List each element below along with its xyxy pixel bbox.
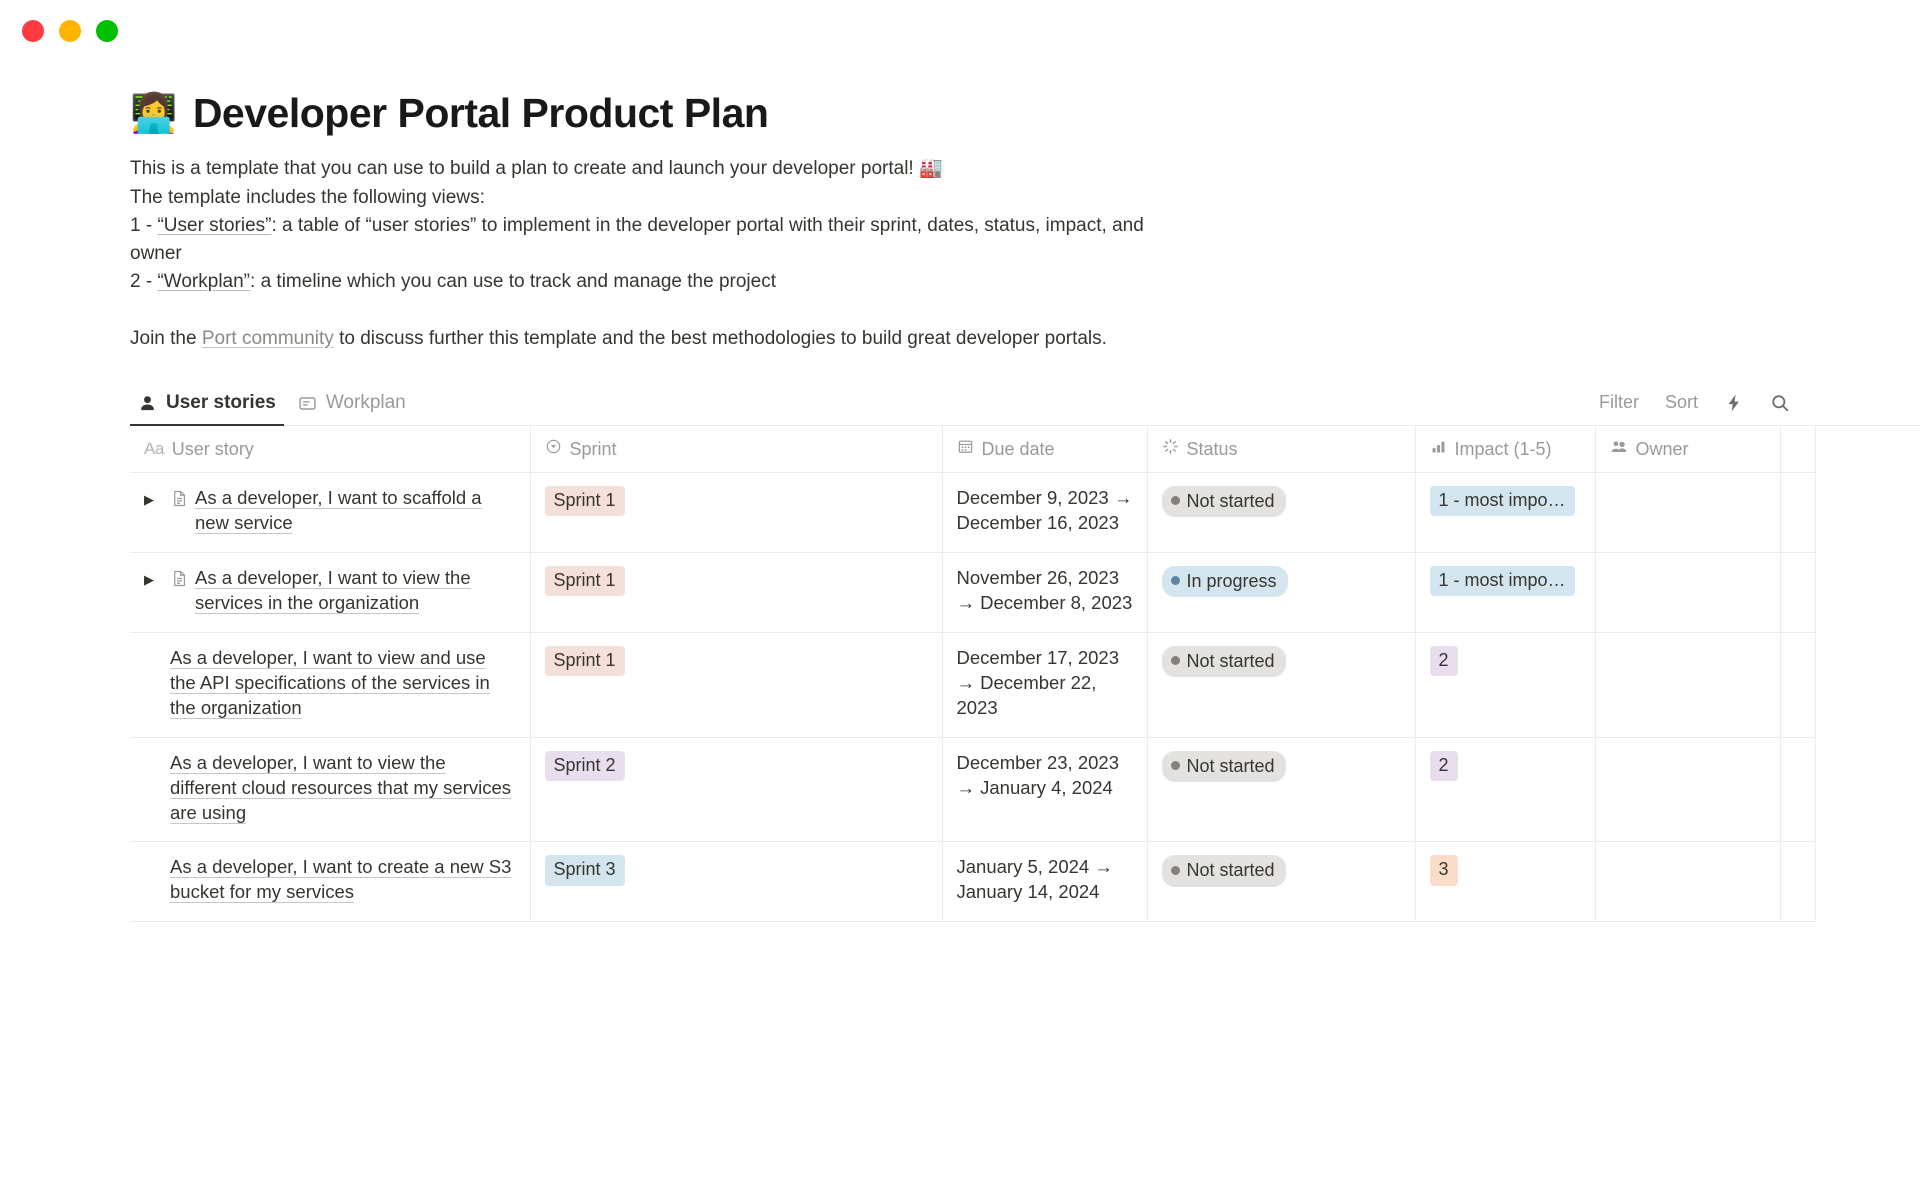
status-dot-icon bbox=[1171, 656, 1180, 665]
cell-due-date[interactable]: January 5, 2024 → January 14, 2024 bbox=[942, 842, 1147, 922]
title-aa-icon: Aa bbox=[144, 439, 164, 459]
impact-tag: 1 - most impo… bbox=[1430, 566, 1575, 596]
cell-owner[interactable] bbox=[1595, 552, 1780, 632]
port-community-link[interactable]: Port community bbox=[202, 328, 334, 349]
impact-tag: 2 bbox=[1430, 646, 1458, 676]
page-document-icon bbox=[170, 486, 195, 515]
view-tabs-bar: User stories Workplan Filter Sort bbox=[130, 388, 1920, 426]
page-title-text: Developer Portal Product Plan bbox=[193, 90, 769, 137]
impact-tag: 3 bbox=[1430, 855, 1458, 885]
join-community-line: Join the Port community to discuss furth… bbox=[130, 325, 1160, 353]
status-badge: Not started bbox=[1162, 855, 1286, 886]
user-story-link[interactable]: As a developer, I want to view the servi… bbox=[195, 566, 516, 616]
cell-trailing bbox=[1780, 737, 1815, 842]
person-at-computer-emoji: 👩‍💻 bbox=[130, 95, 177, 133]
cell-sprint[interactable]: Sprint 3 bbox=[530, 842, 942, 922]
user-story-link[interactable]: As a developer, I want to view the diffe… bbox=[170, 751, 516, 826]
view-tabs: User stories Workplan bbox=[130, 388, 414, 425]
tab-workplan-label: Workplan bbox=[326, 392, 406, 414]
description-line-3: 1 - “User stories”: a table of “user sto… bbox=[130, 212, 1160, 267]
cell-due-date[interactable]: November 26, 2023 → December 8, 2023 bbox=[942, 552, 1147, 632]
sprint-tag: Sprint 1 bbox=[545, 566, 625, 596]
impact-tag: 1 - most impo… bbox=[1430, 486, 1575, 516]
expand-row-toggle-icon bbox=[144, 751, 170, 755]
cell-sprint[interactable]: Sprint 2 bbox=[530, 737, 942, 842]
description-line-1: This is a template that you can use to b… bbox=[130, 155, 1160, 183]
column-header-status-label: Status bbox=[1187, 439, 1238, 460]
minimize-window-button[interactable] bbox=[59, 20, 81, 42]
cell-sprint[interactable]: Sprint 1 bbox=[530, 632, 942, 737]
status-dot-icon bbox=[1171, 761, 1180, 770]
cell-due-date[interactable]: December 23, 2023 → January 4, 2024 bbox=[942, 737, 1147, 842]
table-header: Aa User story Sprint bbox=[130, 426, 1815, 472]
cell-user-story[interactable]: As a developer, I want to create a new S… bbox=[130, 842, 530, 922]
cell-user-story[interactable]: As a developer, I want to view and use t… bbox=[130, 632, 530, 737]
sort-button[interactable]: Sort bbox=[1665, 392, 1698, 413]
cell-due-date[interactable]: December 17, 2023 → December 22, 2023 bbox=[942, 632, 1147, 737]
tab-workplan[interactable]: Workplan bbox=[290, 388, 414, 425]
description-line-2: The template includes the following view… bbox=[130, 184, 1160, 212]
status-dot-icon bbox=[1171, 496, 1180, 505]
page-description: This is a template that you can use to b… bbox=[130, 155, 1160, 352]
cell-trailing bbox=[1780, 552, 1815, 632]
description-line-4: 2 - “Workplan”: a timeline which you can… bbox=[130, 268, 1160, 296]
table-row[interactable]: ▶As a developer, I want to scaffold a ne… bbox=[130, 472, 1815, 552]
status-badge: Not started bbox=[1162, 646, 1286, 677]
due-date-range: December 9, 2023 → December 16, 2023 bbox=[957, 487, 1133, 533]
join-rest: to discuss further this template and the… bbox=[334, 328, 1107, 349]
column-header-owner[interactable]: Owner bbox=[1595, 426, 1780, 472]
column-header-sprint[interactable]: Sprint bbox=[530, 426, 942, 472]
lightning-bolt-icon[interactable] bbox=[1724, 393, 1744, 413]
cell-trailing bbox=[1780, 632, 1815, 737]
window-title-bar bbox=[0, 0, 1920, 62]
cell-due-date[interactable]: December 9, 2023 → December 16, 2023 bbox=[942, 472, 1147, 552]
cell-trailing bbox=[1780, 842, 1815, 922]
table-body: ▶As a developer, I want to scaffold a ne… bbox=[130, 472, 1815, 922]
cell-user-story[interactable]: ▶As a developer, I want to scaffold a ne… bbox=[130, 472, 530, 552]
description-line-3-rest: : a table of “user stories” to implement… bbox=[130, 215, 1144, 264]
column-header-due-date[interactable]: Due date bbox=[942, 426, 1147, 472]
table-row[interactable]: As a developer, I want to create a new S… bbox=[130, 842, 1815, 922]
user-story-link[interactable]: As a developer, I want to view and use t… bbox=[170, 646, 516, 721]
status-dot-icon bbox=[1171, 576, 1180, 585]
cell-impact[interactable]: 1 - most impo… bbox=[1415, 552, 1595, 632]
expand-row-toggle-icon[interactable]: ▶ bbox=[144, 566, 170, 590]
status-spinner-icon bbox=[1162, 438, 1179, 460]
due-date-range: December 23, 2023 → January 4, 2024 bbox=[957, 752, 1120, 798]
table-toolbar: Filter Sort bbox=[1599, 392, 1790, 425]
cell-sprint[interactable]: Sprint 1 bbox=[530, 552, 942, 632]
cell-status[interactable]: Not started bbox=[1147, 472, 1415, 552]
description-line-4-rest: : a timeline which you can use to track … bbox=[250, 271, 776, 292]
join-prefix: Join the bbox=[130, 328, 202, 349]
column-header-user-story[interactable]: Aa User story bbox=[130, 426, 530, 472]
cell-trailing bbox=[1780, 472, 1815, 552]
impact-tag: 2 bbox=[1430, 751, 1458, 781]
search-icon[interactable] bbox=[1770, 393, 1790, 413]
tab-user-stories-label: User stories bbox=[166, 392, 276, 414]
bar-chart-icon bbox=[1430, 438, 1447, 460]
add-column-button[interactable] bbox=[1780, 426, 1815, 472]
column-header-user-story-label: User story bbox=[172, 439, 254, 460]
cell-status[interactable]: In progress bbox=[1147, 552, 1415, 632]
column-header-impact[interactable]: Impact (1-5) bbox=[1415, 426, 1595, 472]
status-dot-icon bbox=[1171, 866, 1180, 875]
cell-impact[interactable]: 1 - most impo… bbox=[1415, 472, 1595, 552]
cell-status[interactable]: Not started bbox=[1147, 737, 1415, 842]
cell-status[interactable]: Not started bbox=[1147, 842, 1415, 922]
close-window-button[interactable] bbox=[22, 20, 44, 42]
column-header-impact-label: Impact (1-5) bbox=[1455, 439, 1552, 460]
status-badge: In progress bbox=[1162, 566, 1288, 597]
due-date-range: November 26, 2023 → December 8, 2023 bbox=[957, 567, 1133, 613]
status-label: Not started bbox=[1187, 858, 1275, 882]
cell-impact[interactable]: 3 bbox=[1415, 842, 1595, 922]
cell-impact[interactable]: 2 bbox=[1415, 632, 1595, 737]
cell-impact[interactable]: 2 bbox=[1415, 737, 1595, 842]
due-date-range: December 17, 2023 → December 22, 2023 bbox=[957, 647, 1120, 718]
page-content: 👩‍💻 Developer Portal Product Plan This i… bbox=[0, 90, 1920, 922]
sprint-tag: Sprint 1 bbox=[545, 646, 625, 676]
sprint-tag: Sprint 1 bbox=[545, 486, 625, 516]
description-line-3-prefix: 1 - bbox=[130, 215, 157, 236]
cell-owner[interactable] bbox=[1595, 842, 1780, 922]
cell-owner[interactable] bbox=[1595, 737, 1780, 842]
cell-user-story[interactable]: As a developer, I want to view the diffe… bbox=[130, 737, 530, 842]
user-story-link[interactable]: As a developer, I want to scaffold a new… bbox=[195, 486, 516, 536]
user-stories-table: Aa User story Sprint bbox=[130, 426, 1816, 922]
page-title: 👩‍💻 Developer Portal Product Plan bbox=[130, 90, 1920, 137]
cell-user-story[interactable]: ▶As a developer, I want to view the serv… bbox=[130, 552, 530, 632]
sprint-tag: Sprint 2 bbox=[545, 751, 625, 781]
person-icon bbox=[138, 394, 157, 413]
status-badge: Not started bbox=[1162, 486, 1286, 517]
table-row[interactable]: As a developer, I want to view and use t… bbox=[130, 632, 1815, 737]
select-circle-icon bbox=[545, 438, 562, 460]
column-header-due-date-label: Due date bbox=[982, 439, 1055, 460]
table-row[interactable]: ▶As a developer, I want to view the serv… bbox=[130, 552, 1815, 632]
tab-user-stories[interactable]: User stories bbox=[130, 388, 284, 425]
workplan-reference-link[interactable]: “Workplan” bbox=[157, 271, 250, 292]
cell-status[interactable]: Not started bbox=[1147, 632, 1415, 737]
status-label: Not started bbox=[1187, 754, 1275, 778]
column-header-sprint-label: Sprint bbox=[570, 439, 617, 460]
page-document-icon bbox=[170, 566, 195, 595]
column-header-status[interactable]: Status bbox=[1147, 426, 1415, 472]
user-stories-reference-link[interactable]: “User stories” bbox=[157, 215, 271, 236]
expand-row-toggle-icon bbox=[144, 646, 170, 650]
status-badge: Not started bbox=[1162, 751, 1286, 782]
status-label: In progress bbox=[1187, 569, 1277, 593]
maximize-window-button[interactable] bbox=[96, 20, 118, 42]
expand-row-toggle-icon bbox=[144, 855, 170, 859]
gallery-view-icon bbox=[298, 394, 317, 413]
sprint-tag: Sprint 3 bbox=[545, 855, 625, 885]
due-date-range: January 5, 2024 → January 14, 2024 bbox=[957, 856, 1113, 902]
cell-owner[interactable] bbox=[1595, 632, 1780, 737]
status-label: Not started bbox=[1187, 489, 1275, 513]
calendar-icon bbox=[957, 438, 974, 460]
user-story-link[interactable]: As a developer, I want to create a new S… bbox=[170, 855, 516, 905]
status-label: Not started bbox=[1187, 649, 1275, 673]
cell-owner[interactable] bbox=[1595, 472, 1780, 552]
table-row[interactable]: As a developer, I want to view the diffe… bbox=[130, 737, 1815, 842]
column-header-owner-label: Owner bbox=[1636, 439, 1689, 460]
people-icon bbox=[1610, 438, 1628, 461]
filter-button[interactable]: Filter bbox=[1599, 392, 1639, 413]
expand-row-toggle-icon[interactable]: ▶ bbox=[144, 486, 170, 510]
table-header-row: Aa User story Sprint bbox=[130, 426, 1815, 472]
cell-sprint[interactable]: Sprint 1 bbox=[530, 472, 942, 552]
description-line-4-prefix: 2 - bbox=[130, 271, 157, 292]
description-spacer bbox=[130, 297, 1160, 325]
